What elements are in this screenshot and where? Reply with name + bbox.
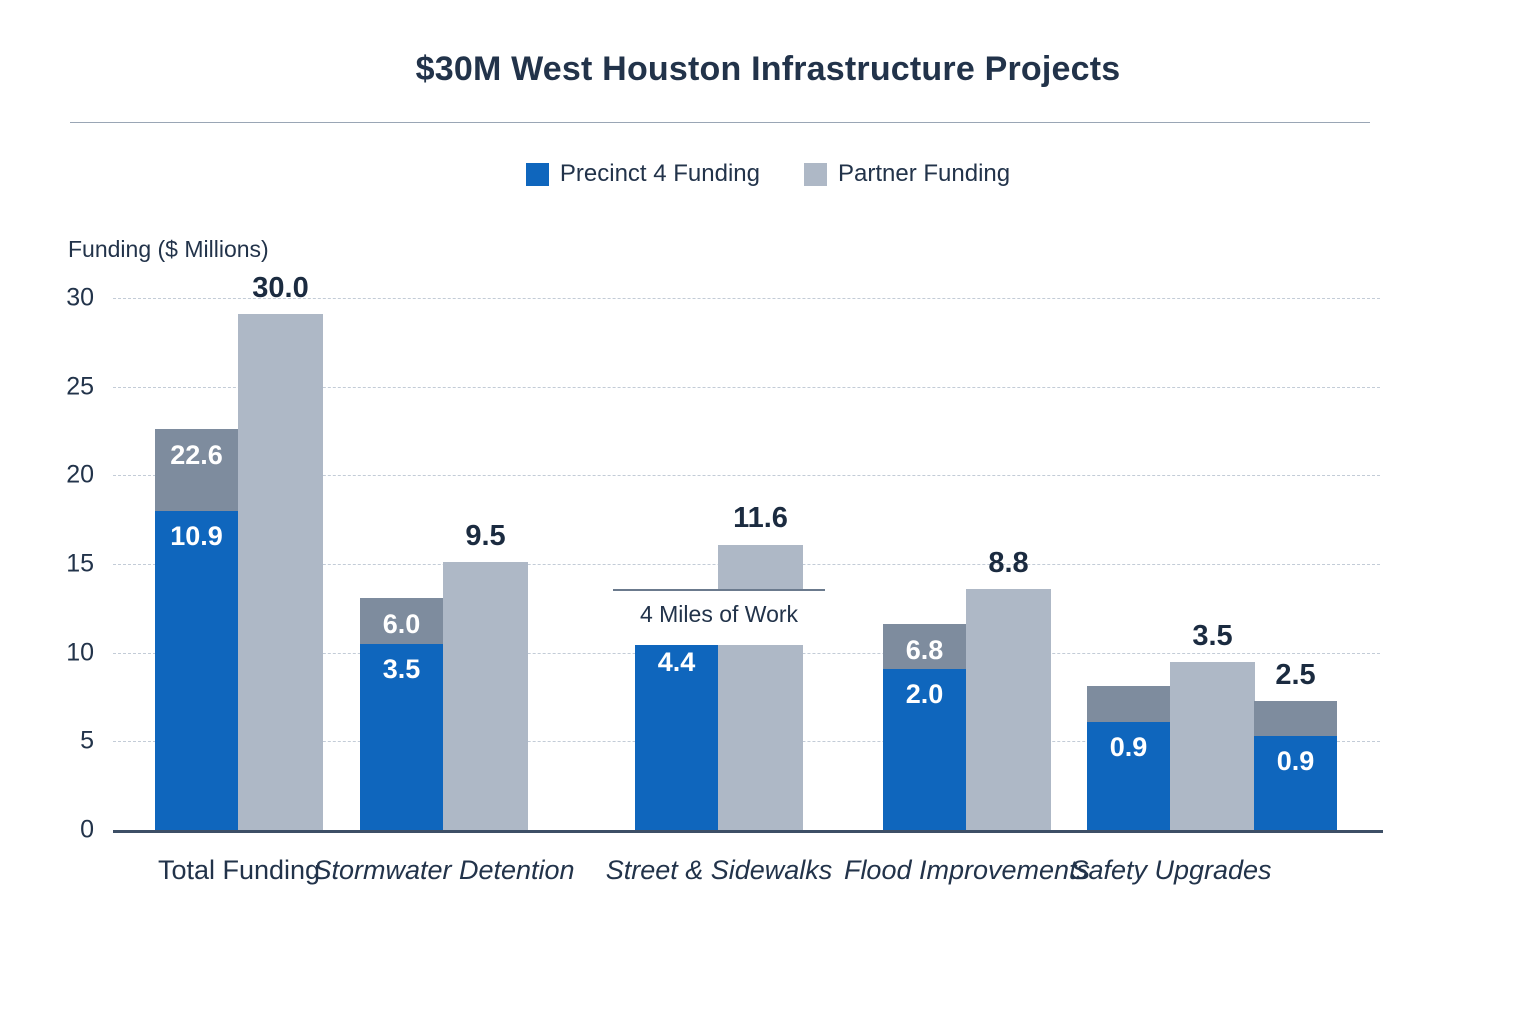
annotation-band: 4 Miles of Work — [613, 589, 825, 645]
x-axis-category-label: Safety Upgrades — [1070, 855, 1271, 886]
y-axis-label-15: 15 — [66, 550, 94, 579]
bar-total-label: 9.5 — [465, 520, 505, 553]
bar-value-label-precinct-4: 4.4 — [635, 647, 718, 678]
partner-bar[interactable] — [966, 589, 1051, 830]
legend-label-partner-funding: Partner Funding — [838, 160, 1010, 188]
bar-total-label: 11.6 — [733, 502, 788, 535]
bar-value-label-partner-segment: 6.8 — [883, 635, 966, 666]
y-axis-label-10: 10 — [66, 638, 94, 667]
y-axis-label-20: 20 — [66, 461, 94, 490]
x-axis-category-label: Street & Sidewalks — [606, 855, 833, 886]
bar-total-label: 30.0 — [252, 272, 308, 305]
bar-total-label: 2.5 — [1275, 659, 1315, 692]
legend-item-partner-funding[interactable]: Partner Funding — [804, 160, 1010, 188]
legend-swatch-gray — [804, 163, 827, 186]
y-axis-label-30: 30 — [66, 284, 94, 313]
bar-value-label-partner-segment: 6.0 — [360, 609, 443, 640]
stacked-bar[interactable] — [155, 429, 238, 830]
bar-total-label: 3.5 — [1192, 620, 1232, 653]
x-axis-category-label: Stormwater Detention — [313, 855, 574, 886]
y-axis-label-5: 5 — [80, 727, 94, 756]
annotation-rule — [613, 589, 825, 591]
y-axis-title: Funding ($ Millions) — [68, 236, 269, 263]
annotation-label: 4 Miles of Work — [613, 601, 825, 628]
y-axis-label-0: 0 — [80, 816, 94, 845]
bar-value-label-precinct-4: 0.9 — [1087, 732, 1170, 763]
bar-segment-partner[interactable] — [1087, 686, 1170, 721]
chart-title: $30M West Houston Infrastructure Project… — [0, 50, 1536, 89]
legend-label-precinct-4-funding: Precinct 4 Funding — [560, 160, 760, 188]
legend-item-precinct-4-funding[interactable]: Precinct 4 Funding — [526, 160, 760, 188]
x-axis-category-label: Total Funding — [158, 855, 320, 886]
bar-value-label-precinct-4: 0.9 — [1254, 746, 1337, 777]
chart-legend: Precinct 4 Funding Partner Funding — [0, 160, 1536, 188]
bar-total-label: 8.8 — [988, 547, 1028, 580]
y-axis-ticks: 051015202530 — [0, 298, 108, 830]
partner-bar[interactable] — [718, 545, 803, 831]
bar-segment-partner[interactable] — [1254, 701, 1337, 736]
bar-segment-precinct-4[interactable] — [155, 511, 238, 830]
bar-value-label-precinct-4: 10.9 — [155, 521, 238, 552]
bar-value-label-partner-segment: 22.6 — [155, 440, 238, 471]
x-axis-line — [113, 830, 1383, 833]
partner-bar[interactable] — [238, 314, 323, 830]
partner-bar[interactable] — [443, 562, 528, 830]
partner-bar[interactable] — [1170, 662, 1255, 830]
plot-area: 10.922.630.03.56.09.54.47.211.62.06.88.8… — [113, 298, 1380, 830]
bar-value-label-precinct-4: 2.0 — [883, 679, 966, 710]
x-axis-category-label: Flood Improvements — [844, 855, 1090, 886]
title-divider — [70, 122, 1370, 123]
y-axis-label-25: 25 — [66, 372, 94, 401]
bar-value-label-precinct-4: 3.5 — [360, 654, 443, 685]
legend-swatch-blue — [526, 163, 549, 186]
